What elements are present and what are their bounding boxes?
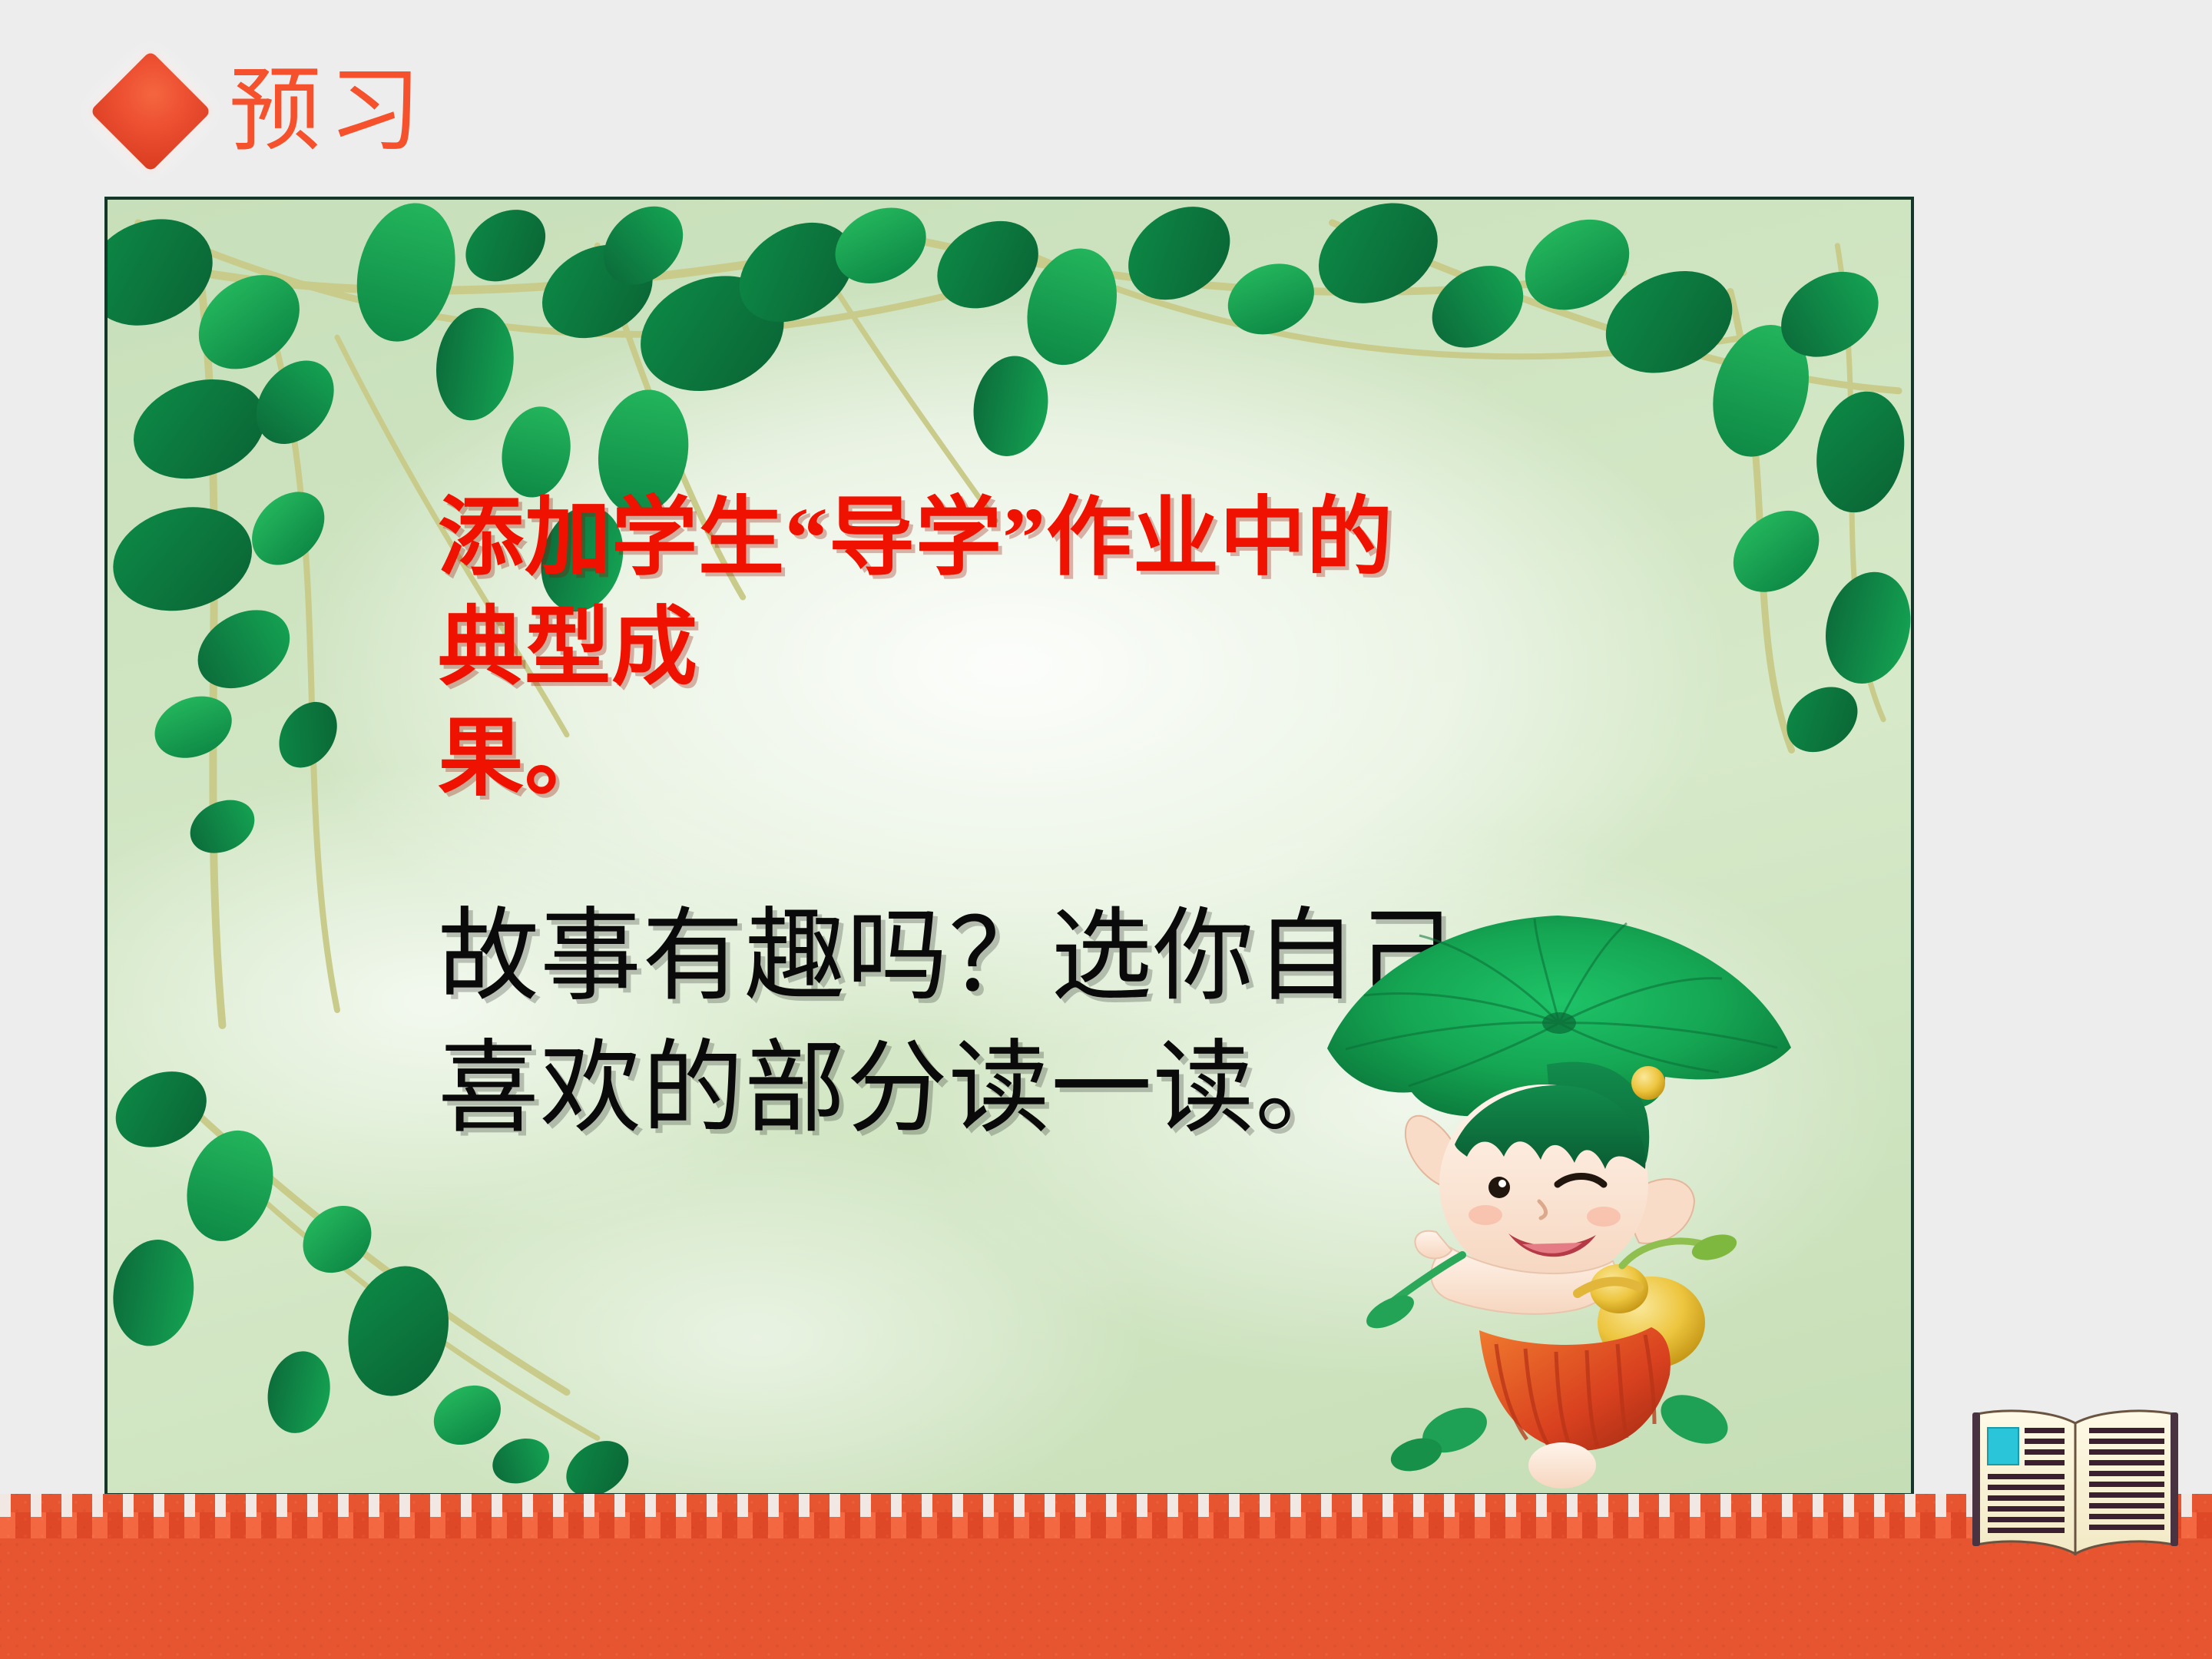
slide-content-panel: 添加学生“导学”作业中的典型成 果。 故事有趣吗？选你自己 喜欢的部分读一读。: [104, 197, 1914, 1496]
slide-page: 预习: [0, 0, 2212, 1659]
red-text-line: 添加学生“导学”作业中的典型成: [438, 484, 1459, 704]
diamond-bullet-icon: [90, 51, 211, 172]
open-book-icon: [1960, 1402, 2190, 1582]
red-text-line: 果。: [438, 704, 1459, 814]
band-scallop-edge: [0, 1494, 2212, 1517]
page-header: 预习: [108, 54, 429, 169]
footer-red-band: [0, 1494, 2212, 1659]
red-instruction-text: 添加学生“导学”作业中的典型成 果。: [438, 484, 1459, 814]
leaf-umbrella-elf-icon: [1304, 883, 1811, 1496]
page-title: 预习: [229, 65, 429, 157]
